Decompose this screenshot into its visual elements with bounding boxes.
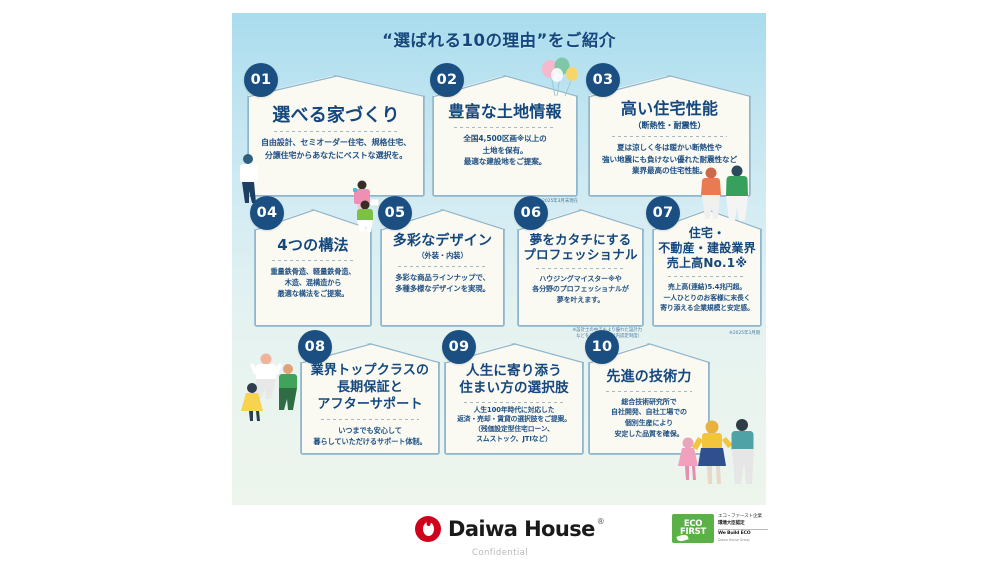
card-note: ※設計士の中でもより優れた設計力 などを有する者（社内認定制度） (524, 328, 642, 340)
card-number-badge: 02 (430, 63, 464, 97)
divider (668, 276, 746, 277)
divider (612, 136, 727, 137)
divider (464, 402, 564, 403)
card-body: 人生100年時代に対応した 返済・売却・賃貸の選択肢をご提案。 （残価設定型住宅… (457, 406, 571, 445)
card-number-badge: 10 (585, 330, 619, 364)
card-content: 選べる家づくり 自由設計、セミオーダー住宅、規格住宅、 分譲住宅からあなたにベス… (247, 75, 425, 197)
card-body: いつまでも安心して 暮らしていただけるサポート体制。 (313, 425, 426, 447)
eco-caption-4: Daiwa House Group (718, 538, 768, 542)
card-heading: 住宅・ 不動産・建設業界 売上高No.1※ (658, 226, 756, 271)
reason-card-01[interactable]: 01 選べる家づくり 自由設計、セミオーダー住宅、規格住宅、 分譲住宅からあなた… (247, 75, 425, 197)
divider (321, 419, 419, 420)
reason-card-08[interactable]: 08 業界トップクラスの 長期保証と アフターサポート いつまでも安心して 暮ら… (300, 343, 440, 455)
daiwa-house-logo: Daiwa House ® (415, 516, 605, 542)
card-number-badge: 08 (298, 330, 332, 364)
divider (398, 266, 486, 267)
card-body: ハウジングマイスター※や 各分野のプロフェッショナルが 夢を叶えます。 (532, 274, 629, 307)
card-heading: 業界トップクラスの 長期保証と アフターサポート (311, 363, 430, 414)
card-number-badge: 03 (586, 63, 620, 97)
reason-card-09[interactable]: 09 人生に寄り添う 住まい方の選択肢 人生100年時代に対応した 返済・売却・… (444, 343, 584, 455)
person-illustration-flag (354, 198, 380, 232)
content-panel: “選ばれる10の理由”をご紹介 (232, 13, 766, 505)
card-number-badge: 09 (442, 330, 476, 364)
logo-text: Daiwa House (448, 517, 595, 541)
card-heading: 多彩なデザイン (393, 233, 492, 250)
eco-caption-1: エコ・ファースト企業 (718, 514, 768, 520)
confidential-label: Confidential (0, 548, 1000, 558)
card-body: 重量鉄骨造、軽量鉄骨造、 木造、混構造から 最適な構法をご提案。 (270, 266, 355, 299)
card-body: 全国4,500区画※以上の 土地を保有。 最適な建設地をご提案。 (463, 133, 546, 168)
divider (454, 127, 555, 128)
eco-first-mark-icon: ECO FIRST (672, 514, 714, 543)
person-illustration-pair-right (697, 163, 759, 221)
person-illustration-family-right (674, 411, 760, 487)
balloons-illustration (537, 58, 583, 98)
card-number-badge: 01 (244, 63, 278, 97)
card-body: 多彩な商品ラインナップで、 多種多様なデザインを実現。 (395, 272, 490, 295)
divider (274, 131, 397, 132)
card-body: 自由設計、セミオーダー住宅、規格住宅、 分譲住宅からあなたにベストな選択を。 (261, 137, 411, 162)
person-illustration-walking-left (236, 151, 262, 205)
card-heading: 高い住宅性能 (621, 100, 718, 119)
eco-badge-caption: エコ・ファースト企業 環境大臣認定 We Build ECO Daiwa Hou… (718, 514, 768, 542)
logo-registered-mark: ® (597, 517, 605, 526)
card-heading: 人生に寄り添う 住まい方の選択肢 (459, 363, 569, 398)
divider (272, 260, 353, 261)
reason-card-07[interactable]: 07 住宅・ 不動産・建設業界 売上高No.1※ 売上高(連結)5.4兆円超。 … (652, 209, 762, 327)
card-heading: 選べる家づくり (272, 105, 399, 126)
card-number-badge: 04 (250, 196, 284, 230)
card-heading: 豊富な土地情報 (448, 103, 561, 122)
eco-caption-3: We Build ECO (718, 531, 768, 537)
card-note: ※2025年3月期 (660, 331, 760, 337)
card-subheading: （外装・内装） (417, 251, 467, 261)
card-number-badge: 07 (646, 196, 680, 230)
slide-root: “選ばれる10の理由”をご紹介 (0, 0, 1000, 563)
page-title: “選ばれる10の理由”をご紹介 (232, 27, 766, 51)
card-heading: 先進の技術力 (606, 369, 691, 386)
card-heading: 4つの構法 (277, 237, 348, 255)
reason-card-06[interactable]: 06 夢をカタチにする プロフェッショナル ハウジングマイスター※や 各分野のプ… (517, 209, 644, 327)
card-number-badge: 05 (378, 196, 412, 230)
divider (536, 268, 626, 269)
card-heading: 夢をカタチにする プロフェッショナル (523, 233, 637, 263)
card-number-badge: 06 (514, 196, 548, 230)
daiwa-house-logo-mark-icon (415, 516, 441, 542)
divider (718, 529, 768, 530)
card-body: 売上高(連結)5.4兆円超。 一人ひとりのお客様に末長く 寄り添える企業規模と安… (660, 282, 754, 314)
card-subheading: （断熱性・耐震性） (634, 120, 706, 131)
divider (606, 391, 692, 392)
eco-first-badge: ECO FIRST エコ・ファースト企業 環境大臣認定 We Build ECO… (672, 513, 772, 543)
reason-card-05[interactable]: 05 多彩なデザイン （外装・内装） 多彩な商品ラインナップで、 多種多様なデザ… (380, 209, 505, 327)
eco-caption-2: 環境大臣認定 (718, 521, 768, 527)
